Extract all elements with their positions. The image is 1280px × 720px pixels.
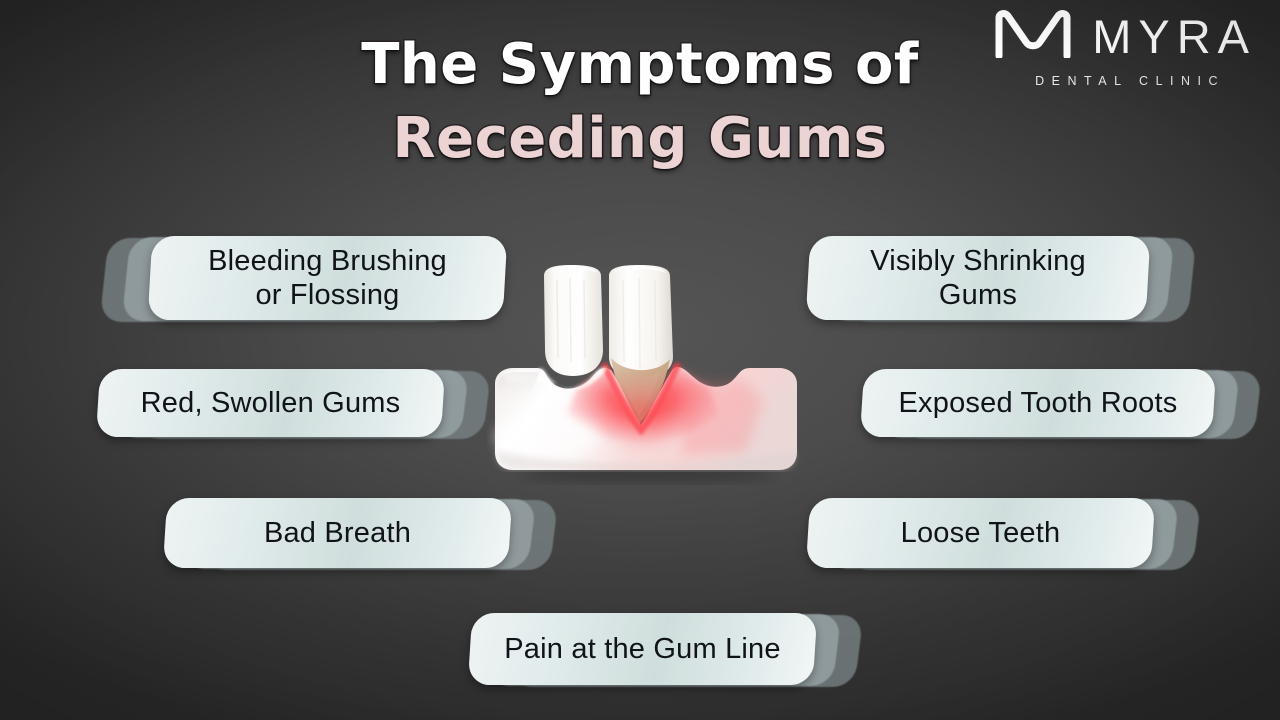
symptom-pill-loose-teeth[interactable]: Loose Teeth — [808, 498, 1153, 568]
symptom-label: Visibly Shrinking Gums — [808, 236, 1148, 320]
title-line-2: Receding Gums — [0, 102, 1280, 176]
symptom-pill-bad-breath[interactable]: Bad Breath — [165, 498, 510, 568]
symptom-label: Exposed Tooth Roots — [862, 369, 1214, 437]
symptom-label: Loose Teeth — [808, 498, 1153, 568]
symptom-pill-shrinking-gums[interactable]: Visibly Shrinking Gums — [808, 236, 1148, 320]
symptom-pill-gum-line-pain[interactable]: Pain at the Gum Line — [470, 613, 815, 685]
page-title: The Symptoms of Receding Gums — [0, 28, 1280, 176]
symptom-label: Red, Swollen Gums — [98, 369, 443, 437]
infographic-canvas: MYRA DENTAL CLINIC The Symptoms of Reced… — [0, 0, 1280, 720]
symptom-label: Pain at the Gum Line — [470, 613, 815, 685]
symptom-pill-exposed-tooth-roots[interactable]: Exposed Tooth Roots — [862, 369, 1214, 437]
symptom-pill-bleeding[interactable]: Bleeding Brushing or Flossing — [150, 236, 505, 320]
symptom-label: Bleeding Brushing or Flossing — [150, 236, 505, 320]
symptom-pill-red-swollen-gums[interactable]: Red, Swollen Gums — [98, 369, 443, 437]
symptom-label: Bad Breath — [165, 498, 510, 568]
receding-gums-illustration — [487, 262, 807, 487]
title-line-1: The Symptoms of — [0, 28, 1280, 102]
